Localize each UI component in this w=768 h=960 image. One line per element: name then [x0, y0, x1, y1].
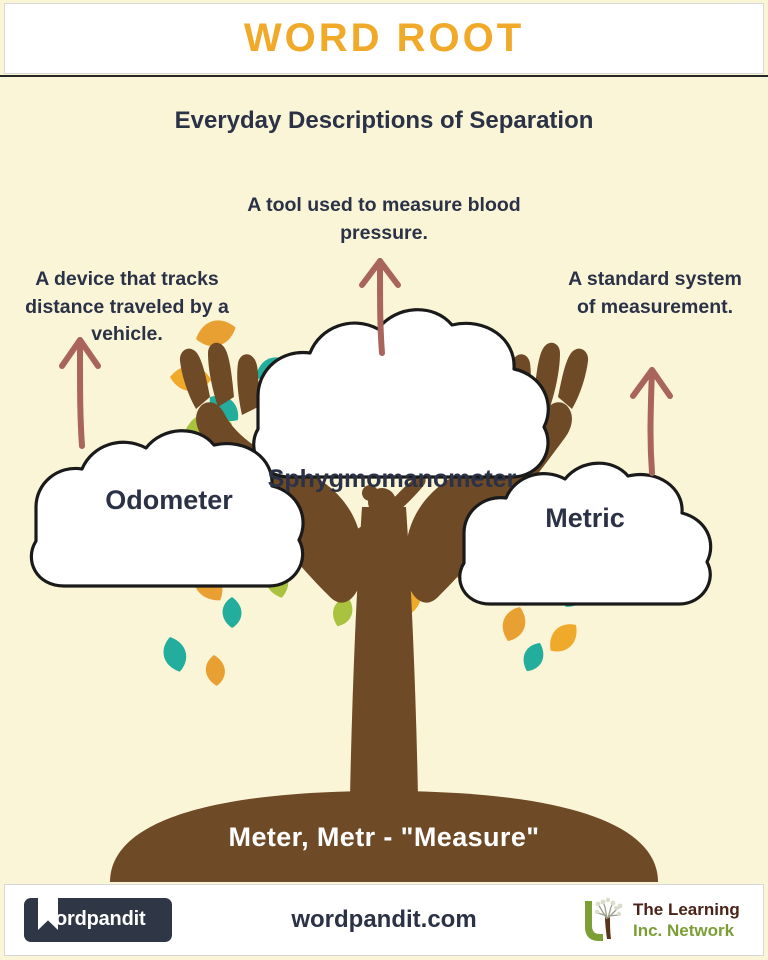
description-middle: A tool used to measure blood pressure. — [232, 192, 536, 247]
partner-line-2: Inc. Network — [633, 921, 740, 942]
cloud-middle — [254, 310, 549, 477]
footer-bar: ordpandit wordpandit.com — [4, 884, 764, 956]
description-right: A standard system of measurement. — [560, 266, 750, 321]
cloud-label-metric: Metric — [455, 503, 715, 534]
infographic-poster: WORD ROOT Everyday Descriptions of Separ… — [0, 0, 768, 960]
arrow-right-icon — [633, 370, 670, 473]
header-bar: WORD ROOT — [4, 3, 764, 74]
page-title: WORD ROOT — [244, 16, 524, 61]
learning-network-text: The Learning Inc. Network — [633, 900, 740, 941]
tree-in-u-icon — [577, 897, 629, 945]
description-left: A device that tracks distance traveled b… — [2, 266, 252, 349]
root-word-banner: Meter, Metr - "Measure" — [0, 822, 768, 853]
partner-line-1: The Learning — [633, 900, 740, 921]
cloud-label-odometer: Odometer — [24, 485, 314, 516]
arrow-left-icon — [62, 340, 98, 446]
learning-network-logo[interactable]: The Learning Inc. Network — [577, 897, 747, 945]
